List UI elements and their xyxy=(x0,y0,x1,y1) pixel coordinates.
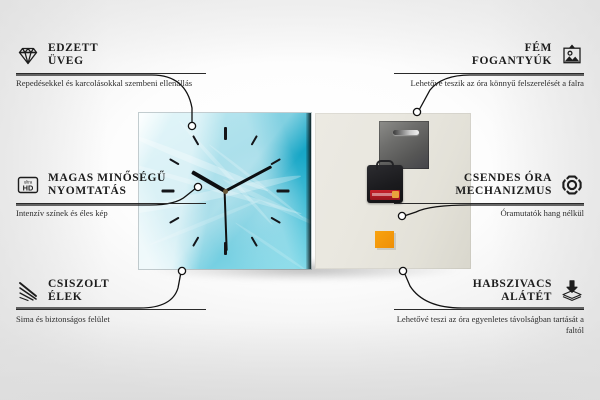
ultra-hd-icon: ultra HD xyxy=(16,173,40,197)
clock-hand-hub xyxy=(223,189,228,194)
feature-description: Repedésekkel és karcolásokkal szembeni e… xyxy=(16,78,206,89)
diagonal-lines-icon xyxy=(16,279,40,303)
arrow-onto-pad-icon xyxy=(560,279,584,303)
feature-title-line2: ALÁTÉT xyxy=(473,291,552,304)
feature-title-line2: MECHANIZMUS xyxy=(455,185,552,198)
clock-tick xyxy=(251,135,258,146)
feature-title-line2: ÉLEK xyxy=(48,291,109,304)
mechanism-loop xyxy=(376,160,394,170)
battery-stripe xyxy=(372,193,392,196)
feature-tempered-glass[interactable]: EDZETT ÜVEG Repedésekkel és karcolásokka… xyxy=(16,42,206,89)
feature-title-line2: ÜVEG xyxy=(48,55,98,68)
feature-title-line1: HABSZIVACS xyxy=(473,278,552,291)
feature-divider xyxy=(394,309,584,310)
hanger-slot xyxy=(393,130,419,135)
svg-text:HD: HD xyxy=(23,183,34,192)
glass-edge xyxy=(306,113,311,269)
feature-title-line2: FOGANTYÚK xyxy=(472,55,552,68)
feature-metal-hangers[interactable]: FÉM FOGANTYÚK Lehetővé teszik az óra kön… xyxy=(394,42,584,89)
feature-title-line1: MAGAS MINŐSÉGŰ xyxy=(48,172,166,185)
feature-silent-mechanism[interactable]: CSENDES ÓRA MECHANIZMUS Óramutatók hang … xyxy=(394,172,584,219)
feature-description: Intenzív színek és éles kép xyxy=(16,208,206,219)
feature-title-line1: FÉM xyxy=(472,42,552,55)
foam-pad-part xyxy=(375,231,394,248)
feature-description: Óramutatók hang nélkül xyxy=(394,208,584,219)
feature-divider xyxy=(394,203,584,204)
feature-description: Lehetővé teszi az óra egyenletes távolsá… xyxy=(394,314,584,335)
feature-foam-pad[interactable]: HABSZIVACS ALÁTÉT Lehetővé teszi az óra … xyxy=(394,278,584,335)
clock-tick xyxy=(224,127,227,140)
clock-tick xyxy=(276,190,289,193)
feature-divider xyxy=(16,309,206,310)
feature-polished-edges[interactable]: CSISZOLT ÉLEK Sima és biztonságos felüle… xyxy=(16,278,206,325)
feature-title-line1: CSISZOLT xyxy=(48,278,109,291)
feature-title-line2: NYOMTATÁS xyxy=(48,185,166,198)
feature-divider xyxy=(16,203,206,204)
infographic-canvas: EDZETT ÜVEG Repedésekkel és karcolásokka… xyxy=(0,0,600,400)
feature-divider xyxy=(394,73,584,74)
clock-tick xyxy=(192,236,199,247)
picture-frame-hanger-icon xyxy=(560,43,584,67)
feature-title-line1: EDZETT xyxy=(48,42,98,55)
feature-high-quality-print[interactable]: ultra HD MAGAS MINŐSÉGŰ NYOMTATÁS Intenz… xyxy=(16,172,206,219)
feature-description: Sima és biztonságos felület xyxy=(16,314,206,325)
clock-tick xyxy=(169,158,180,165)
feature-divider xyxy=(16,73,206,74)
clock-tick xyxy=(270,158,281,165)
gear-icon xyxy=(560,173,584,197)
diamond-icon xyxy=(16,43,40,67)
feature-title-line1: CSENDES ÓRA xyxy=(455,172,552,185)
feature-description: Lehetővé teszik az óra könnyű felszerelé… xyxy=(394,78,584,89)
